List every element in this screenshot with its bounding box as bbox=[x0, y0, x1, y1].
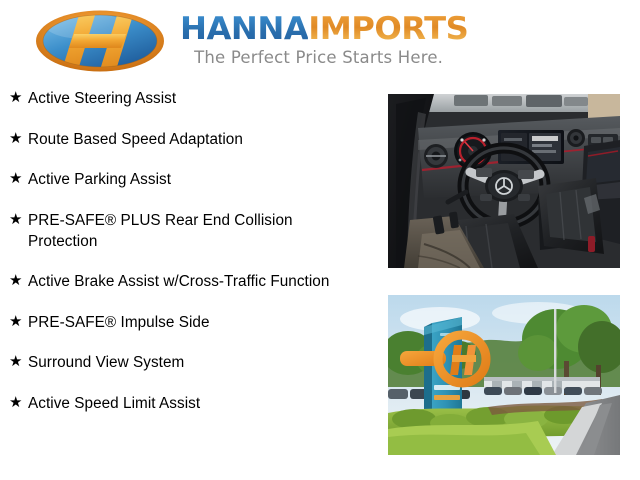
list-item: ★ PRE-SAFE® Impulse Side bbox=[0, 312, 378, 333]
star-bullet-icon: ★ bbox=[9, 129, 28, 149]
page-header: HANNAIMPORTS The Perfect Price Starts He… bbox=[0, 0, 640, 86]
feature-label: PRE-SAFE® PLUS Rear End Collision Protec… bbox=[28, 210, 358, 252]
hanna-h-logo-icon bbox=[34, 10, 166, 72]
star-bullet-icon: ★ bbox=[9, 88, 28, 108]
list-item: ★ Active Steering Assist bbox=[0, 88, 378, 109]
list-item: ★ Active Parking Assist bbox=[0, 169, 378, 190]
list-item: ★ PRE-SAFE® PLUS Rear End Collision Prot… bbox=[0, 210, 378, 252]
star-bullet-icon: ★ bbox=[9, 352, 28, 372]
feature-label: PRE-SAFE® Impulse Side bbox=[28, 312, 210, 333]
feature-label: Active Brake Assist w/Cross-Traffic Func… bbox=[28, 271, 329, 292]
feature-label: Active Steering Assist bbox=[28, 88, 176, 109]
list-item: ★ Route Based Speed Adaptation bbox=[0, 129, 378, 150]
brand-logo-lockup[interactable]: HANNAIMPORTS The Perfect Price Starts He… bbox=[34, 8, 457, 72]
star-bullet-icon: ★ bbox=[9, 312, 28, 332]
list-item: ★ Surround View System bbox=[0, 352, 378, 373]
vehicle-feature-list: ★ Active Steering Assist ★ Route Based S… bbox=[0, 88, 378, 433]
star-bullet-icon: ★ bbox=[9, 393, 28, 413]
wordmark-imports: IMPORTS bbox=[308, 11, 468, 47]
brand-wordmark: HANNAIMPORTS bbox=[180, 14, 468, 45]
feature-label: Surround View System bbox=[28, 352, 184, 373]
star-bullet-icon: ★ bbox=[9, 210, 28, 230]
vehicle-interior-image bbox=[388, 94, 620, 268]
list-item: ★ Active Speed Limit Assist bbox=[0, 393, 378, 414]
list-item: ★ Active Brake Assist w/Cross-Traffic Fu… bbox=[0, 271, 378, 292]
feature-label: Route Based Speed Adaptation bbox=[28, 129, 243, 150]
brand-tagline: The Perfect Price Starts Here. bbox=[180, 48, 457, 67]
feature-label: Active Parking Assist bbox=[28, 169, 171, 190]
brand-wordmark-block: HANNAIMPORTS The Perfect Price Starts He… bbox=[180, 14, 457, 67]
star-bullet-icon: ★ bbox=[9, 271, 28, 291]
wordmark-hanna: HANNA bbox=[180, 11, 308, 47]
star-bullet-icon: ★ bbox=[9, 169, 28, 189]
dealership-sign-image bbox=[388, 295, 620, 455]
dealership-sign-photo[interactable] bbox=[388, 295, 620, 455]
vehicle-interior-photo[interactable] bbox=[388, 94, 620, 268]
feature-label: Active Speed Limit Assist bbox=[28, 393, 200, 414]
